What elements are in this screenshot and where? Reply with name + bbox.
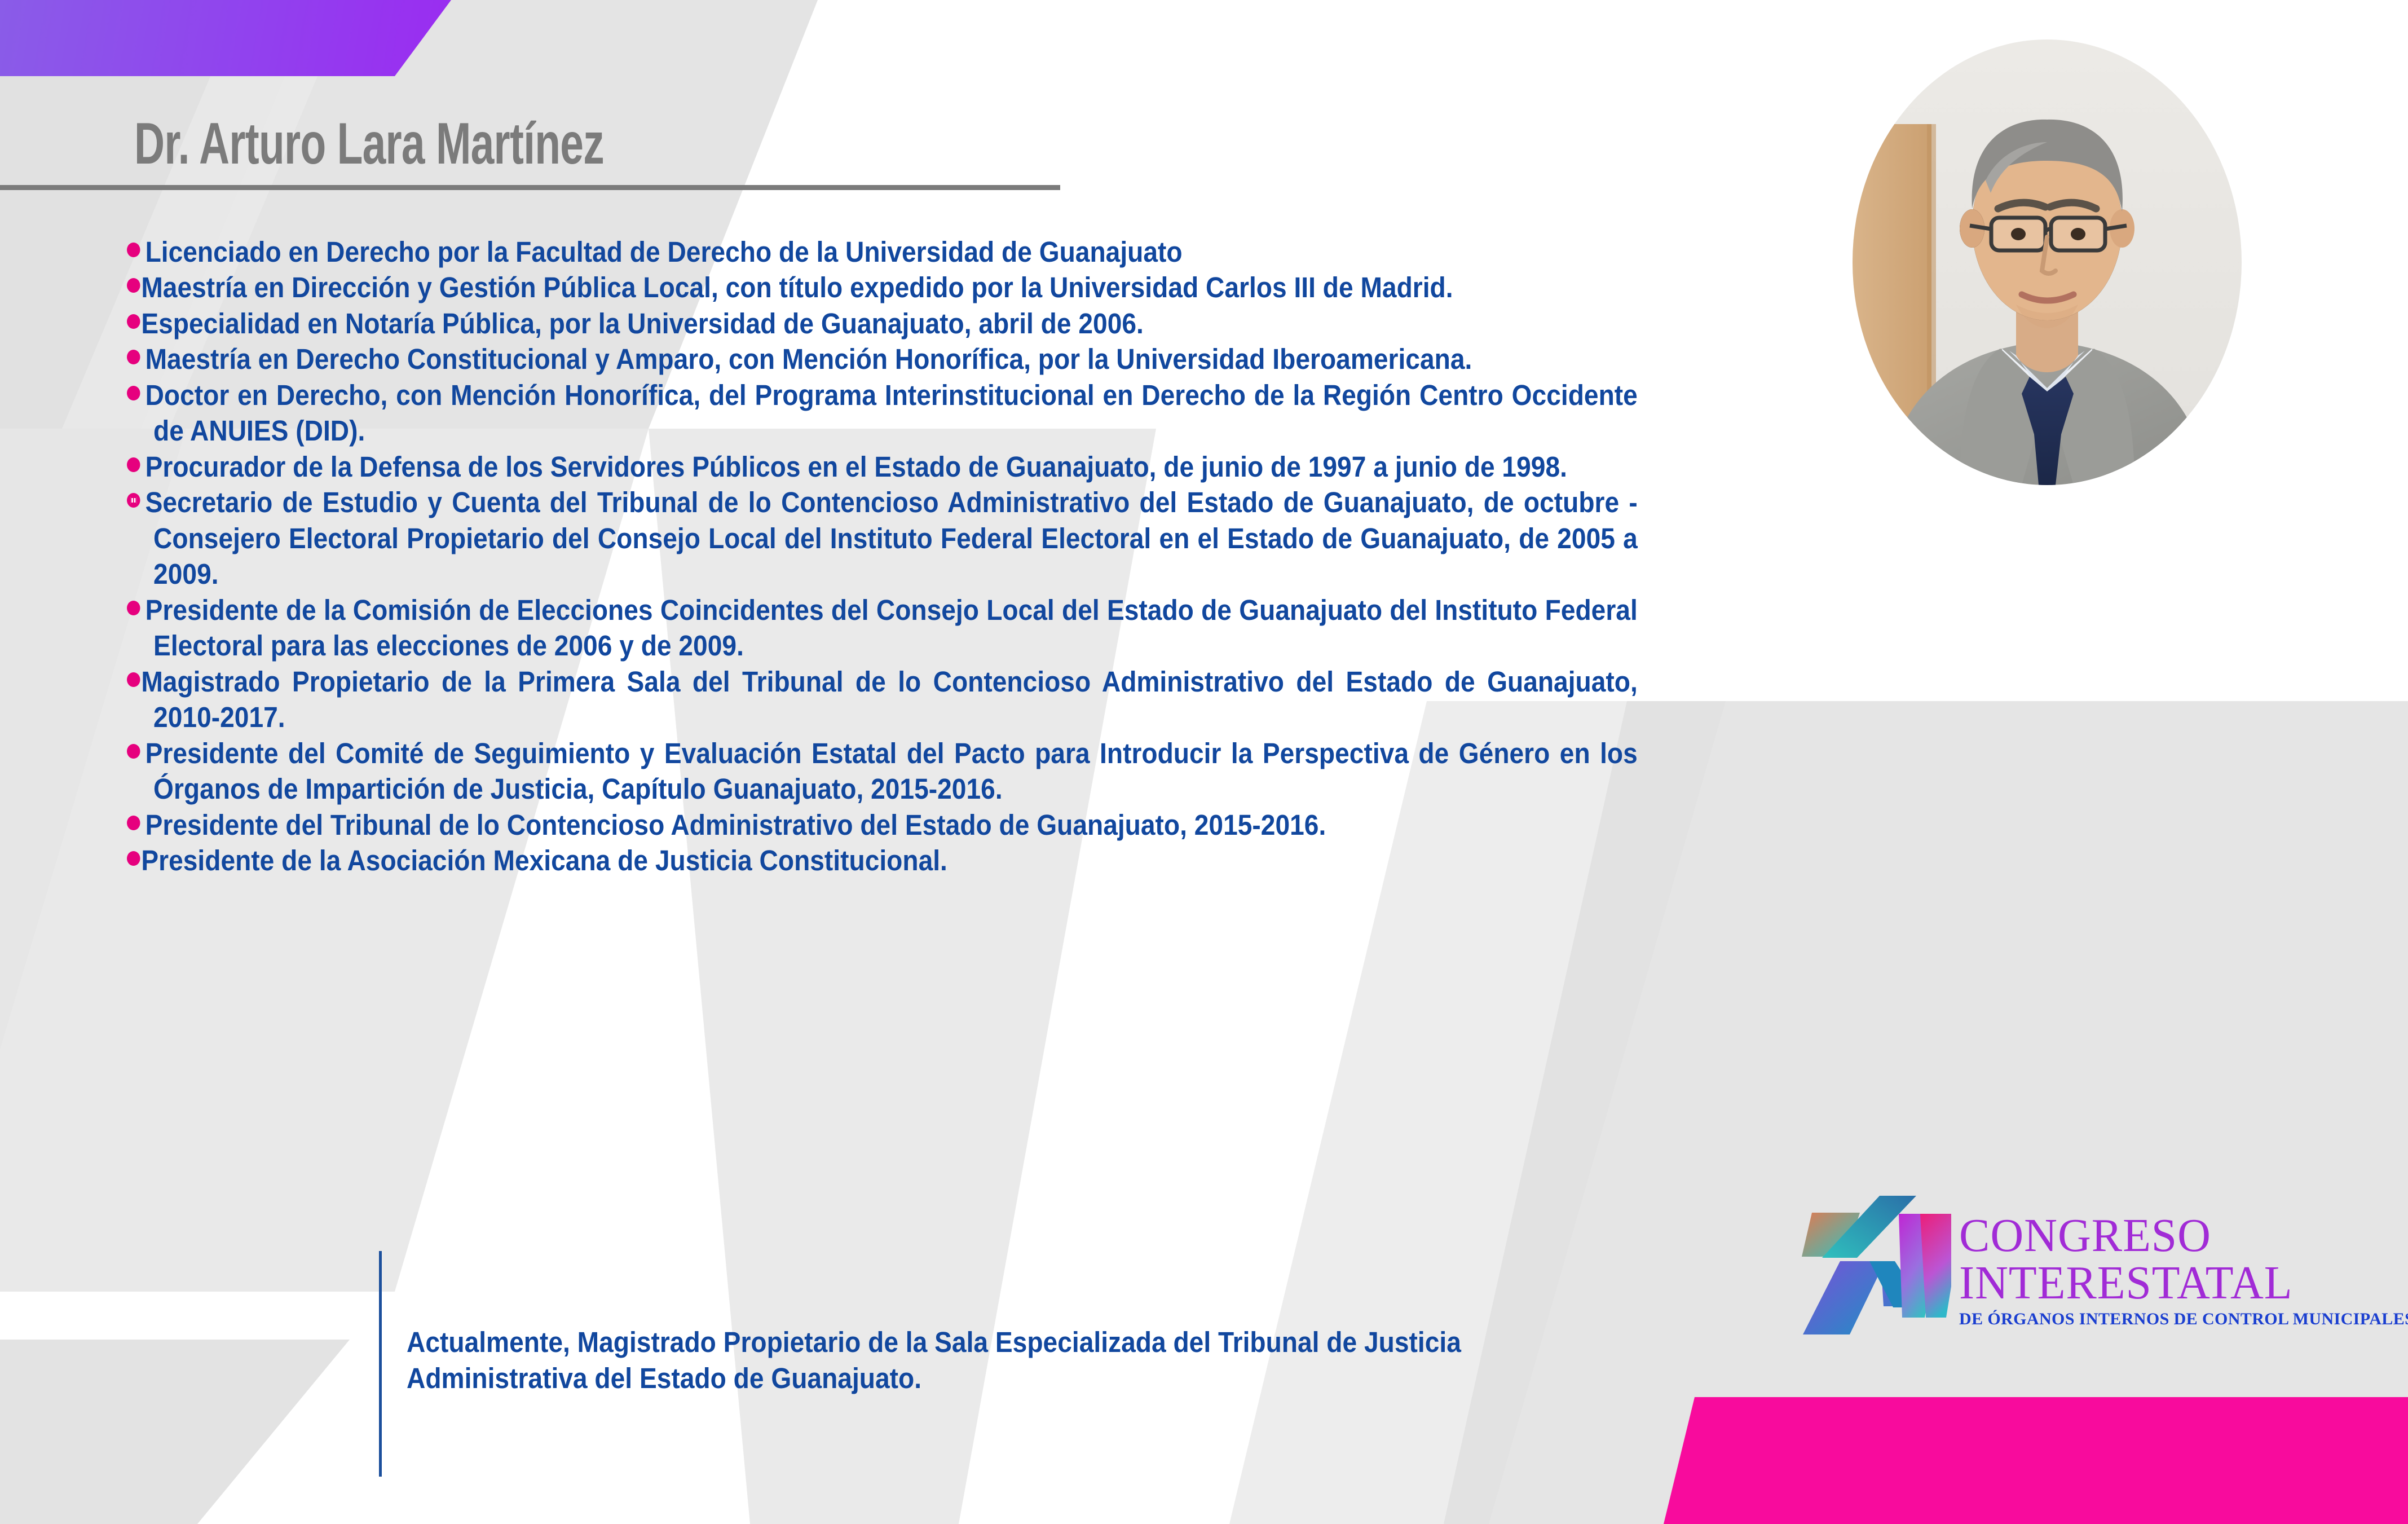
list-item-text: Magistrado Propietario de la Primera Sal… xyxy=(141,666,1637,733)
slide-canvas: Dr. Arturo Lara Martínez xyxy=(0,0,2408,1524)
bullet-dot-icon xyxy=(127,278,140,293)
bullet-dot-icon xyxy=(127,457,140,472)
biography-list: Licenciado en Derecho por la Facultad de… xyxy=(127,234,1638,879)
list-item-text: Presidente del Comité de Seguimiento y E… xyxy=(145,737,1638,805)
bullet-dot-icon xyxy=(127,243,140,257)
title-block: Dr. Arturo Lara Martínez xyxy=(0,113,1077,190)
list-item-text: Especialidad en Notaría Pública, por la … xyxy=(141,307,1144,340)
title-underline xyxy=(0,185,1060,190)
portrait-photo xyxy=(1853,39,2242,485)
list-item-text: Presidente del Tribunal de lo Contencios… xyxy=(145,809,1326,841)
list-item: Procurador de la Defensa de los Servidor… xyxy=(127,449,1638,484)
list-item: Secretario de Estudio y Cuenta del Tribu… xyxy=(127,484,1638,592)
list-item-text: Secretario de Estudio y Cuenta del Tribu… xyxy=(145,486,1638,590)
pink-slab-decoration xyxy=(1664,1397,2408,1524)
list-item: Presidente del Tribunal de lo Contencios… xyxy=(127,807,1638,843)
list-item-text: Presidente de la Asociación Mexicana de … xyxy=(141,844,947,876)
list-item: Magistrado Propietario de la Primera Sal… xyxy=(127,664,1638,735)
page-title: Dr. Arturo Lara Martínez xyxy=(134,113,813,175)
list-item-text: Licenciado en Derecho por la Facultad de… xyxy=(145,236,1183,268)
bullet-expand-marker-icon xyxy=(127,493,140,508)
list-item: Especialidad en Notaría Pública, por la … xyxy=(127,306,1638,341)
list-item: Presidente de la Asociación Mexicana de … xyxy=(127,843,1638,878)
footnote-divider xyxy=(379,1251,382,1477)
list-item: Licenciado en Derecho por la Facultad de… xyxy=(127,234,1638,270)
xv-monogram-icon xyxy=(1802,1196,1951,1345)
congress-logo: CONGRESO INTERESTATAL DE ÓRGANOS INTERNO… xyxy=(1802,1196,2408,1345)
list-item-text: Procurador de la Defensa de los Servidor… xyxy=(145,451,1567,483)
list-item: Presidente del Comité de Seguimiento y E… xyxy=(127,735,1638,807)
footnote-text: Actualmente, Magistrado Propietario de l… xyxy=(407,1324,1581,1397)
list-item-text: Presidente de la Comisión de Elecciones … xyxy=(145,594,1638,662)
bullet-dot-icon xyxy=(127,601,140,615)
list-item: Maestría en Derecho Constitucional y Amp… xyxy=(127,341,1638,377)
list-item: Maestría en Dirección y Gestión Pública … xyxy=(127,270,1638,305)
bullet-dot-icon xyxy=(127,851,140,866)
footnote-block: Actualmente, Magistrado Propietario de l… xyxy=(379,1251,1704,1477)
bullet-dot-icon xyxy=(127,816,140,830)
list-item-text: Maestría en Derecho Constitucional y Amp… xyxy=(145,343,1472,375)
bullet-dot-icon xyxy=(127,350,140,364)
logo-line-congreso: CONGRESO xyxy=(1959,1212,2401,1259)
bullet-dot-icon xyxy=(127,672,140,687)
list-item: Presidente de la Comisión de Elecciones … xyxy=(127,592,1638,664)
logo-wordmark: CONGRESO INTERESTATAL DE ÓRGANOS INTERNO… xyxy=(1959,1212,2408,1328)
logo-subtitle: DE ÓRGANOS INTERNOS DE CONTROL MUNICIPAL… xyxy=(1959,1310,2408,1329)
bullet-dot-icon xyxy=(127,386,140,400)
portrait-illustration xyxy=(1853,39,2242,485)
purple-ribbon-decoration xyxy=(0,0,451,76)
logo-line-interestatal: INTERESTATAL xyxy=(1959,1259,2401,1306)
list-item-text: Doctor en Derecho, con Mención Honorífic… xyxy=(145,379,1638,447)
list-item-text: Maestría en Dirección y Gestión Pública … xyxy=(141,271,1453,303)
bullet-dot-icon xyxy=(127,314,140,329)
list-item: Doctor en Derecho, con Mención Honorífic… xyxy=(127,377,1638,449)
bullet-dot-icon xyxy=(127,744,140,759)
